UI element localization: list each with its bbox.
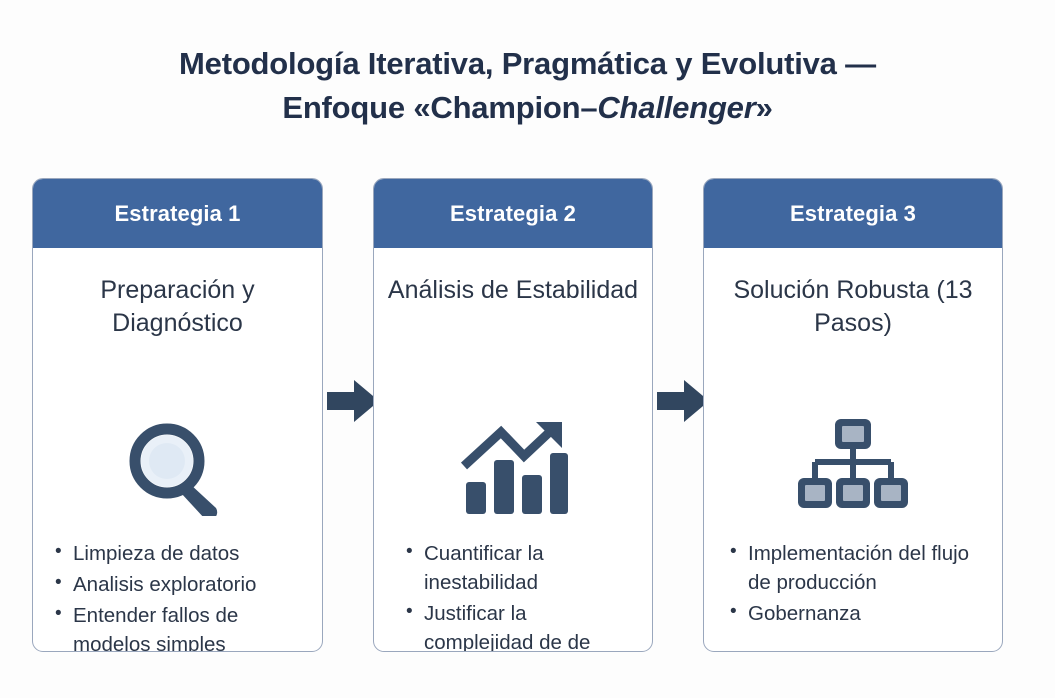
strategy-card-3-title: Solución Robusta (13 Pasos) [704,274,1002,341]
flow-arrow-1-to-2 [327,378,379,424]
strategy-card-3-bullet-list: Implementación del flujo de producción G… [704,540,1002,631]
page-title-line-2-suffix: » [756,90,773,125]
strategy-card-3-header: Estrategia 3 [704,179,1002,248]
page-title-line-2: Enfoque «Champion–Challenger» [0,86,1055,130]
strategy-card-2-title: Análisis de Estabilidad [374,274,652,307]
page-title: Metodología Iterativa, Pragmática y Evol… [0,42,1055,130]
strategy-card-3: Estrategia 3 Solución Robusta (13 Pasos) [703,178,1003,652]
strategy-card-1-body: Preparación y Diagnóstico Limpieza de da… [33,248,322,651]
strategy-card-1: Estrategia 1 Preparación y Diagnóstico L… [32,178,323,652]
list-item: Implementación del flujo de producción [730,540,986,598]
flow-arrow-2-to-3 [657,378,709,424]
list-item: Cuantificar la inestabilidad [406,540,636,598]
list-item: Entender fallos de modelos simples [55,602,306,652]
bar-chart-growth-icon [374,420,652,516]
hierarchy-org-chart-icon [704,416,1002,512]
page-title-line-1: Metodología Iterativa, Pragmática y Evol… [179,46,876,81]
strategy-card-1-header: Estrategia 1 [33,179,322,248]
strategy-card-2: Estrategia 2 Análisis de Estabilidad [373,178,653,652]
strategy-card-2-header-label: Estrategia 2 [450,201,576,227]
strategy-card-3-header-label: Estrategia 3 [790,201,916,227]
page-title-line-2-prefix: Enfoque «Champion– [282,90,597,125]
strategy-card-2-header: Estrategia 2 [374,179,652,248]
list-item: Limpieza de datos [55,540,306,569]
diagram-canvas: Metodología Iterativa, Pragmática y Evol… [0,0,1055,698]
list-item: Gobernanza [730,600,986,629]
page-title-line-2-italic: Challenger [597,90,755,125]
strategy-card-2-bullet-list: Cuantificar la inestabilidad Justificar … [374,540,652,652]
strategy-card-3-body: Solución Robusta (13 Pasos) [704,248,1002,651]
strategy-card-1-header-label: Estrategia 1 [115,201,241,227]
list-item: Analisis exploratorio [55,571,306,600]
magnifier-icon [33,420,322,516]
list-item: Justificar la complejidad de de solución [406,600,636,652]
strategy-card-1-bullet-list: Limpieza de datos Analisis exploratorio … [33,540,322,652]
strategy-card-2-body: Análisis de Estabilidad Cuantificar la i… [374,248,652,651]
strategy-card-1-title: Preparación y Diagnóstico [33,274,322,341]
